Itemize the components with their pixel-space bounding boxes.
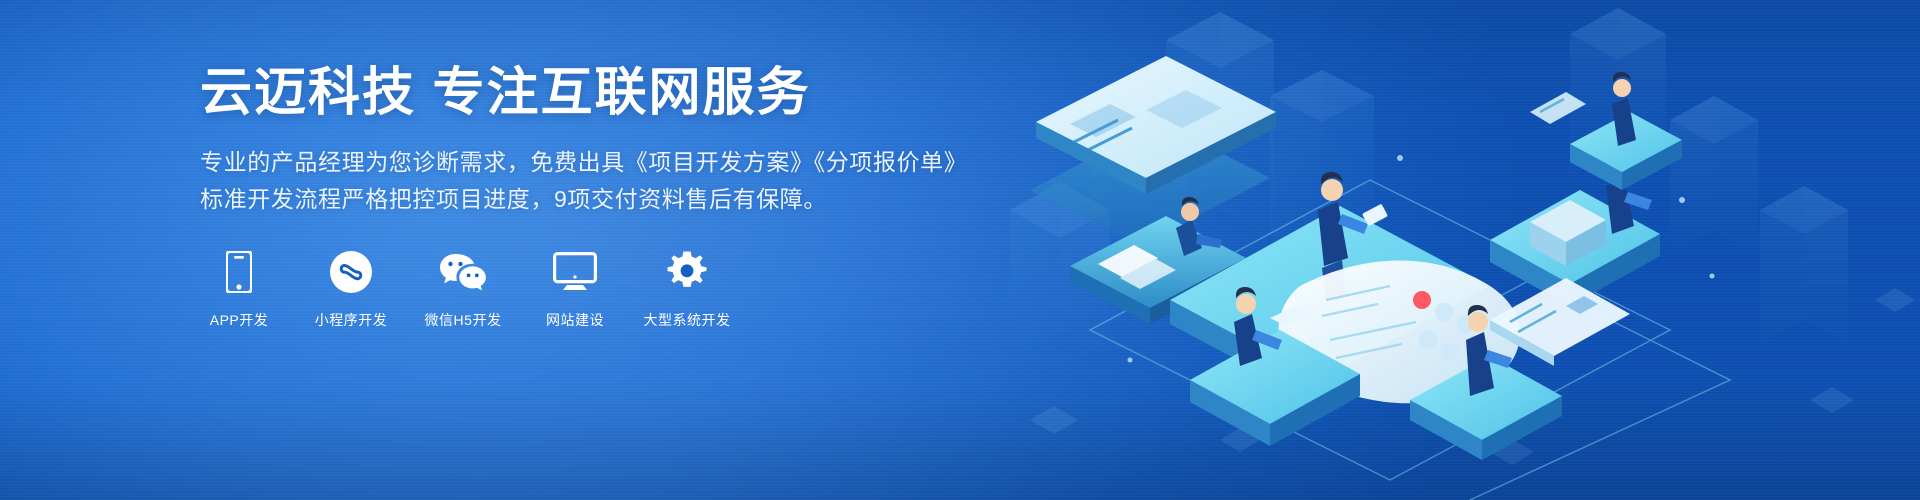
mobile-phone-icon [226,249,252,295]
service-item-wechat[interactable]: 微信H5开发 [424,249,502,330]
gear-icon [666,249,708,295]
banner-copy: 云迈科技 专注互联网服务 专业的产品经理为您诊断需求，免费出具《项目开发方案》《… [200,64,920,330]
service-label-large-system: 大型系统开发 [644,310,731,330]
service-item-large-system[interactable]: 大型系统开发 [648,249,726,330]
mini-program-icon [330,249,372,295]
illustration-stand-topright [1530,72,1682,190]
illustration-monitor [1030,56,1276,246]
service-item-mini-program[interactable]: 小程序开发 [312,249,390,330]
hero-illustration [970,0,1920,500]
wechat-icon [439,249,487,295]
service-label-wechat: 微信H5开发 [425,310,502,330]
service-label-mini-program: 小程序开发 [315,310,388,330]
service-item-website[interactable]: 网站建设 [536,249,614,330]
service-list: APP开发 小程序开发 [200,249,920,330]
service-label-website: 网站建设 [546,310,604,330]
banner-subtitle: 专业的产品经理为您诊断需求，免费出具《项目开发方案》《分项报价单》 标准开发流程… [200,144,920,219]
subtitle-line-2: 标准开发流程严格把控项目进度，9项交付资料售后有保障。 [200,181,920,218]
service-label-app: APP开发 [210,310,269,330]
hero-banner: 云迈科技 专注互联网服务 专业的产品经理为您诊断需求，免费出具《项目开发方案》《… [0,0,1920,500]
page-title: 云迈科技 专注互联网服务 [200,64,920,122]
subtitle-line-1: 专业的产品经理为您诊断需求，免费出具《项目开发方案》《分项报价单》 [200,144,920,181]
service-item-app[interactable]: APP开发 [200,249,278,330]
monitor-icon [553,249,597,295]
